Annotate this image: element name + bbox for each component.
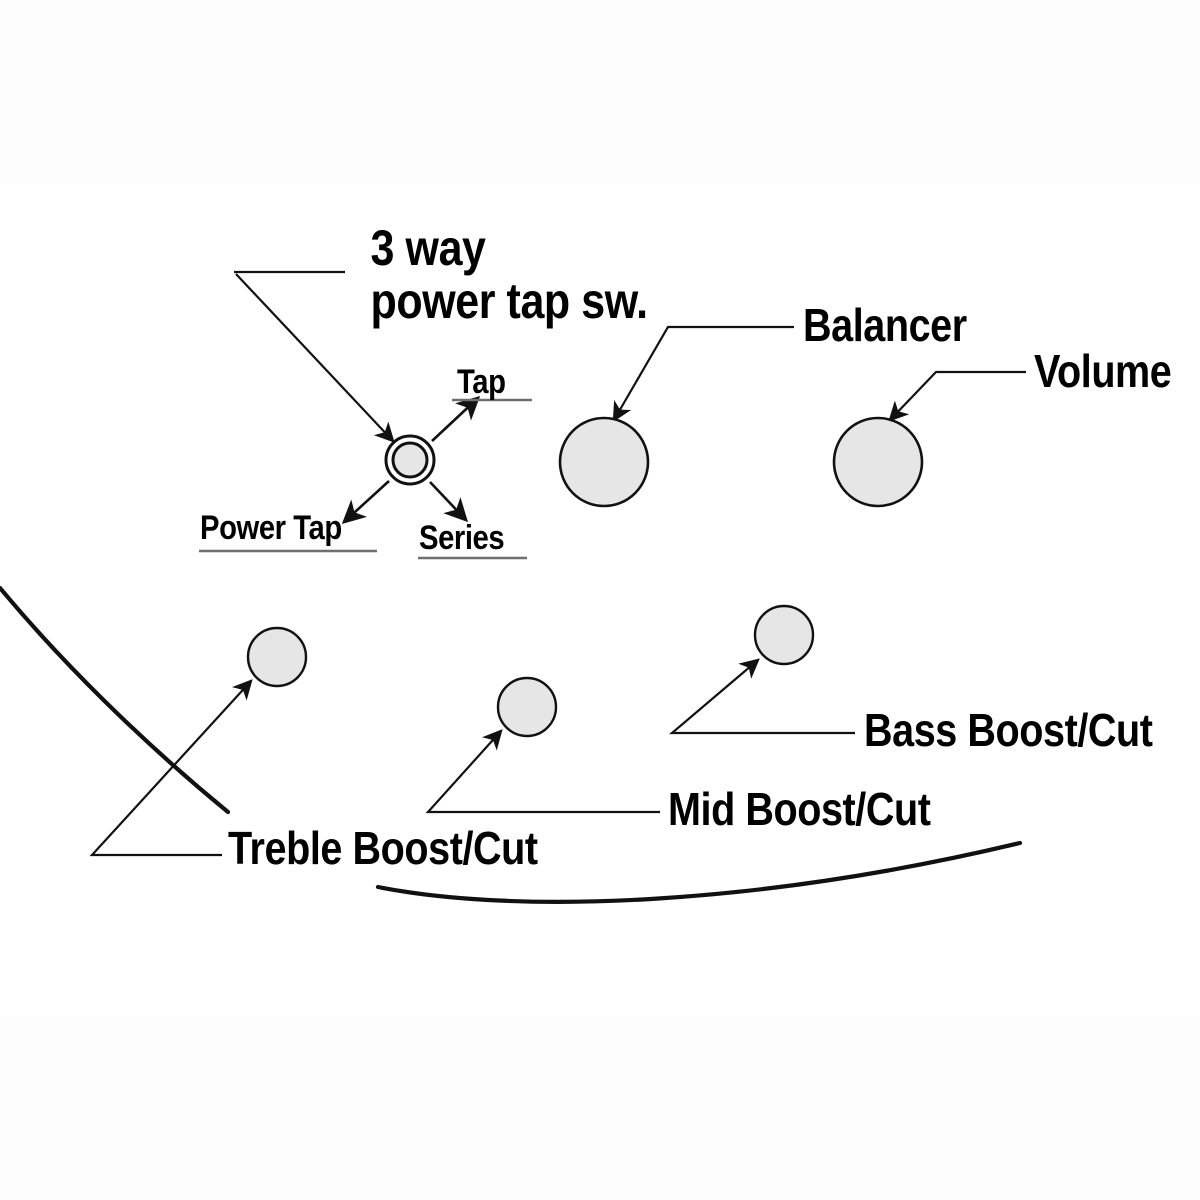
label-mid: Mid Boost/Cut: [668, 786, 930, 832]
label-treble: Treble Boost/Cut: [228, 825, 538, 871]
label-series: Series: [419, 521, 504, 555]
arrow-switch-to-tap: [432, 398, 478, 441]
label-power-tap-switch-line1: 3 way: [371, 222, 648, 275]
power-tap-switch-inner-cap[interactable]: [393, 443, 427, 477]
mid-knob[interactable]: [498, 678, 556, 736]
label-power-tap-switch: 3 way power tap sw.: [348, 222, 670, 328]
leader-bass: [672, 660, 855, 733]
label-power-tap: Power Tap: [200, 511, 342, 545]
bass-knob[interactable]: [755, 606, 813, 664]
arrow-switch-to-power-tap: [344, 481, 389, 522]
label-balancer: Balancer: [803, 302, 967, 348]
volume-knob[interactable]: [834, 418, 922, 506]
arrow-switch-to-series: [430, 482, 466, 520]
label-bass: Bass Boost/Cut: [864, 707, 1153, 753]
label-volume: Volume: [1034, 348, 1171, 394]
diagram-artwork: [0, 0, 1200, 1200]
leader-volume: [890, 372, 1026, 420]
label-tap: Tap: [457, 365, 506, 399]
label-power-tap-switch-line2: power tap sw.: [371, 275, 648, 328]
balancer-knob[interactable]: [560, 418, 648, 506]
leader-balancer: [614, 327, 794, 420]
treble-knob[interactable]: [248, 628, 306, 686]
diagram-canvas: 3 way power tap sw. Tap Power Tap Series…: [0, 0, 1200, 1200]
body-contour-left: [0, 588, 228, 812]
leader-mid: [428, 731, 660, 812]
